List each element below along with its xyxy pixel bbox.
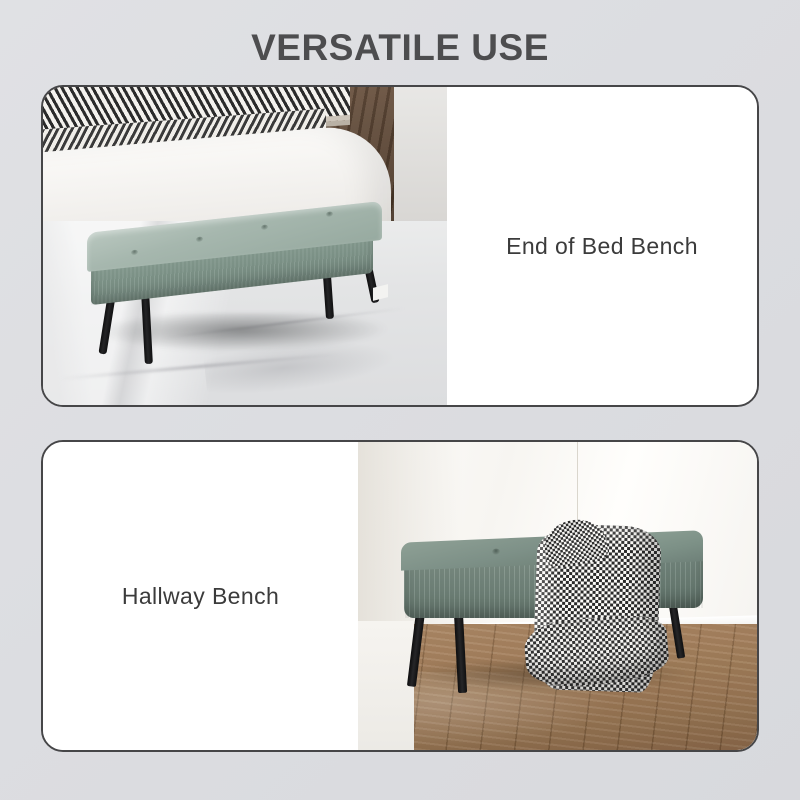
bench-product bbox=[87, 214, 394, 363]
card-end-of-bed-bench: End of Bed Bench bbox=[41, 85, 759, 407]
tuft-button bbox=[261, 224, 268, 230]
caption-end-of-bed-bench: End of Bed Bench bbox=[506, 233, 698, 260]
photo-end-of-bed-bench bbox=[43, 87, 447, 405]
infographic-page: VERSATILE USE bbox=[0, 0, 800, 800]
card-hallway-bench: Hallway Bench bbox=[41, 440, 759, 752]
caption-hallway-bench: Hallway Bench bbox=[122, 583, 279, 610]
tuft-button bbox=[326, 212, 333, 218]
caption-pane-end-of-bed-bench: End of Bed Bench bbox=[447, 87, 757, 405]
tuft-button bbox=[132, 249, 139, 255]
bedroom-right-wall bbox=[394, 87, 447, 233]
product-tag bbox=[373, 284, 388, 301]
tuft-button bbox=[196, 237, 203, 243]
bench-product bbox=[398, 528, 709, 700]
photo-hallway-bench bbox=[358, 442, 757, 750]
caption-pane-hallway-bench: Hallway Bench bbox=[43, 442, 358, 750]
tuft-button bbox=[492, 549, 500, 555]
page-title: VERSATILE USE bbox=[0, 26, 800, 70]
